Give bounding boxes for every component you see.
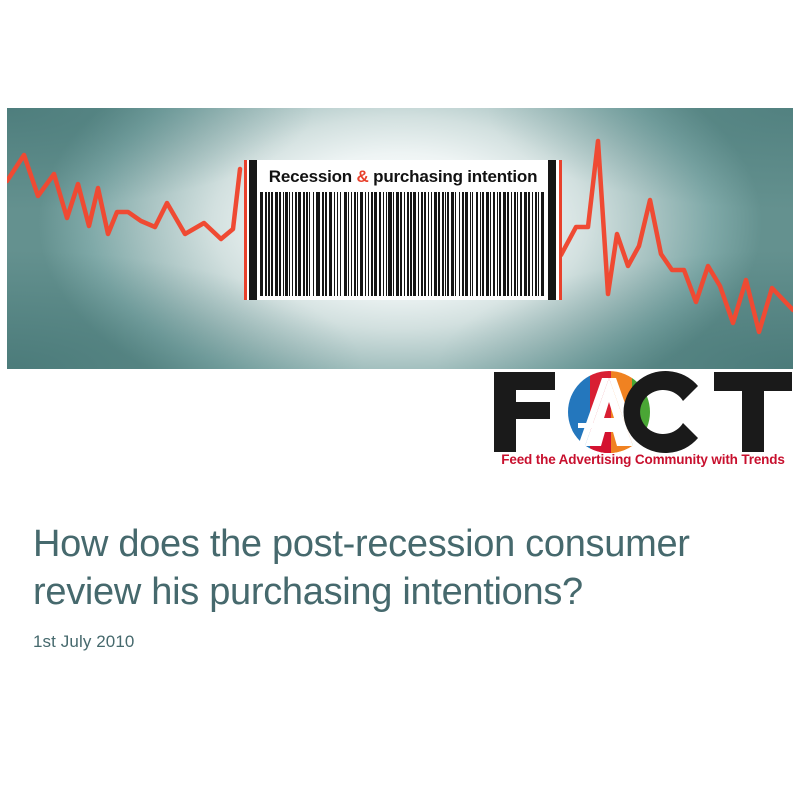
- barcode-rail-right: [559, 160, 562, 300]
- fact-logo: Feed the Advertising Community with Tren…: [492, 368, 794, 480]
- page-title: How does the post-recession consumer rev…: [33, 520, 763, 616]
- barcode-rail-left: [244, 160, 247, 300]
- fact-logo-tagline: Feed the Advertising Community with Tren…: [492, 452, 794, 467]
- barcode-guard-bar-left: [249, 160, 257, 300]
- slide-date: 1st July 2010: [33, 632, 763, 652]
- title-block: How does the post-recession consumer rev…: [33, 520, 763, 652]
- barcode-gap: [544, 192, 546, 296]
- page-title-line-2: review his purchasing intentions?: [33, 571, 583, 613]
- title-slide: Recession & purchasing intention: [0, 0, 800, 800]
- barcode-caption-prefix: Recession: [269, 167, 352, 186]
- chart-line-left: [7, 155, 240, 239]
- page-title-line-1: How does the post-recession consumer: [33, 523, 690, 565]
- logo-letter-t-icon: [714, 372, 792, 452]
- barcode-caption-suffix: purchasing intention: [373, 167, 537, 186]
- fact-wordmark: [492, 368, 794, 454]
- barcode-bars: [260, 192, 546, 296]
- barcode-caption-ampersand: &: [357, 167, 369, 186]
- chart-line-right: [561, 141, 793, 332]
- barcode-graphic: Recession & purchasing intention: [244, 160, 562, 300]
- barcode-caption: Recession & purchasing intention: [262, 164, 544, 190]
- barcode-guard-bar-right: [548, 160, 556, 300]
- logo-letter-f-icon: [494, 372, 555, 452]
